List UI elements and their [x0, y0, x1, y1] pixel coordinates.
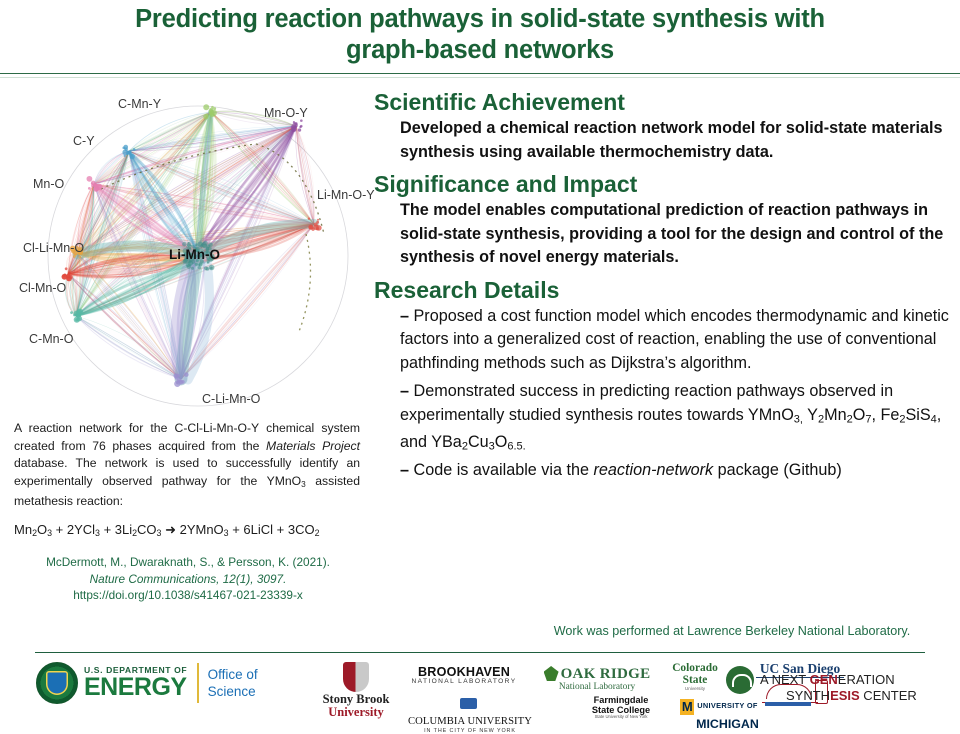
- logo-farmingdale-state-college: Farmingdale State College State Universi…: [580, 696, 662, 720]
- citation-line-1: McDermott, M., Dwaraknath, S., & Persson…: [14, 554, 362, 571]
- bnl-line-2: NATIONAL LABORATORY: [406, 679, 522, 686]
- left-column: Li-Mn-O C-Mn-YMn-O-YC-YLi-Mn-O-YMn-OCl-L…: [0, 84, 372, 604]
- nextgen-eration: ERATION: [838, 672, 895, 687]
- doe-office-of-science-label: Office of Science: [208, 666, 258, 700]
- right-column: Scientific Achievement Developed a chemi…: [374, 88, 954, 483]
- graph-node-label-c-mn-o: C-Mn-O: [29, 332, 73, 346]
- sbu-line-2: University: [308, 706, 404, 719]
- work-performed-note: Work was performed at Lawrence Berkeley …: [512, 624, 952, 638]
- citation-line-2: Nature Communications, 12(1), 3097.: [14, 571, 362, 588]
- page-title: Predicting reaction pathways in solid-st…: [0, 4, 960, 66]
- poster-slide: Predicting reaction pathways in solid-st…: [0, 0, 960, 720]
- research-details-bullet-1: – Proposed a cost function model which e…: [400, 305, 954, 376]
- farmingdale-line-3: State University of New York: [580, 715, 662, 719]
- chemical-equation: Mn2O3 + 2YCl3 + 3Li2CO3 ➜ 2YMnO3 + 6LiCl…: [14, 522, 360, 538]
- citation: McDermott, M., Dwaraknath, S., & Persson…: [14, 554, 362, 604]
- title-line-1: Predicting reaction pathways in solid-st…: [0, 4, 960, 35]
- graph-node-label-mn-o: Mn-O: [33, 177, 64, 191]
- ornl-line-1: OAK RIDGE: [561, 666, 651, 682]
- citation-doi-link[interactable]: https://doi.org/10.1038/s41467-021-23339…: [14, 587, 362, 604]
- columbia-line-1: COLUMBIA UNIVERSITY: [408, 716, 532, 727]
- reaction-network-graph: Li-Mn-O C-Mn-YMn-O-YC-YLi-Mn-O-YMn-OCl-L…: [6, 84, 366, 414]
- center-name-label: A NEXT GENERATION SYNTHESIS CENTER: [760, 672, 956, 704]
- graph-node-label-cl-mn-o: Cl-Mn-O: [19, 281, 66, 295]
- bullet-dash-1: –: [400, 307, 409, 325]
- section-body-significance-and-impact: The model enables computational predicti…: [400, 199, 954, 270]
- office-line-2: Science: [208, 683, 258, 700]
- graph-node-label-li-mn-o-y: Li-Mn-O-Y: [317, 188, 375, 202]
- logo-colorado-state-university: Colorado State University: [664, 663, 726, 692]
- graph-node-label-c-li-mn-o: C-Li-Mn-O: [202, 392, 260, 406]
- graph-center-label: Li-Mn-O: [169, 247, 220, 262]
- title-line-2: graph-based networks: [0, 35, 960, 66]
- oak-leaf-icon: [544, 666, 559, 681]
- office-line-1: Office of: [208, 666, 258, 683]
- colorado-state-ram-icon: [726, 666, 754, 694]
- michigan-m-icon: M: [680, 699, 694, 715]
- figure-caption: A reaction network for the C-Cl-Li-Mn-O-…: [14, 420, 360, 510]
- section-body-scientific-achievement: Developed a chemical reaction network mo…: [400, 117, 954, 164]
- doe-energy-label: ENERGY: [84, 675, 187, 700]
- csu-line-3: University: [664, 687, 726, 692]
- title-divider-shadow: [0, 77, 960, 78]
- caption-italic: Materials Project: [266, 439, 360, 453]
- section-heading-scientific-achievement: Scientific Achievement: [374, 88, 954, 116]
- nextgen-gen: GEN: [810, 672, 838, 687]
- doe-seal-icon: [36, 662, 78, 704]
- logo-columbia-university: COLUMBIA UNIVERSITY IN THE CITY OF NEW Y…: [402, 695, 538, 734]
- doe-logo: U.S. DEPARTMENT OF ENERGY Office of Scie…: [36, 662, 258, 704]
- package-name: reaction-network: [593, 461, 713, 479]
- graph-node-label-c-y: C-Y: [73, 134, 95, 148]
- logo-brookhaven-national-laboratory: BROOKHAVEN NATIONAL LABORATORY: [406, 666, 522, 686]
- graph-node-label-c-mn-y: C-Mn-Y: [118, 97, 161, 111]
- footer-logo-bar: U.S. DEPARTMENT OF ENERGY Office of Scie…: [0, 658, 960, 720]
- nextgen-center: CENTER: [860, 688, 917, 703]
- umich-line-1: UNIVERSITY OF: [697, 701, 757, 710]
- columbia-line-2: IN THE CITY OF NEW YORK: [402, 729, 538, 734]
- nextgen-synth: SYNTH: [786, 688, 830, 703]
- section-heading-significance-and-impact: Significance and Impact: [374, 170, 954, 198]
- nextgen-esis: ESIS: [830, 688, 860, 703]
- graph-node-label-mn-o-y: Mn-O-Y: [264, 106, 308, 120]
- logo-stony-brook-university: Stony Brook University: [308, 662, 404, 719]
- bullet-dash-2: –: [400, 382, 409, 400]
- research-details-bullet-3: – Code is available via the reaction-net…: [400, 459, 954, 483]
- research-details-bullet-2: – Demonstrated success in predicting rea…: [400, 380, 954, 459]
- stony-brook-shield-icon: [343, 662, 369, 692]
- columbia-crown-icon: [460, 698, 477, 709]
- umich-line-2: MICHIGAN: [696, 717, 759, 731]
- footer-divider: [35, 652, 925, 653]
- section-heading-research-details: Research Details: [374, 276, 954, 304]
- ornl-line-2: National Laboratory: [534, 683, 660, 693]
- title-divider: [0, 73, 960, 74]
- logo-oak-ridge-national-laboratory: OAK RIDGE National Laboratory: [534, 666, 660, 693]
- graph-node-label-cl-li-mn-o: Cl-Li-Mn-O: [23, 241, 84, 255]
- bullet-dash-3: –: [400, 461, 409, 479]
- doe-divider-line: [197, 663, 198, 703]
- nextgen-prefix: A NEXT: [760, 672, 810, 687]
